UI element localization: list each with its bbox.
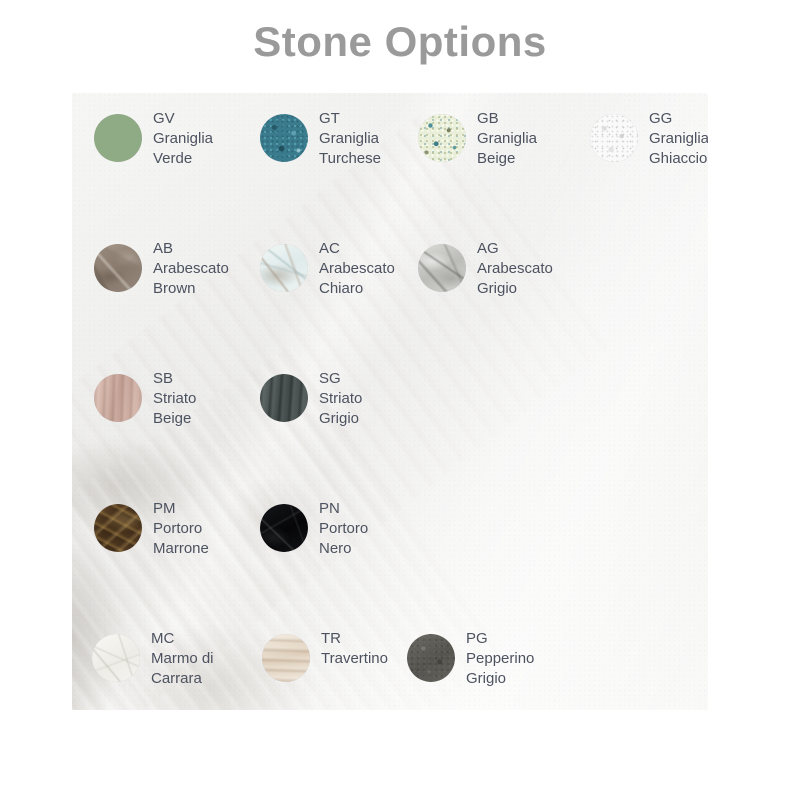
stone-option-sg[interactable]: SG Striato Grigio xyxy=(260,365,362,429)
stone-name-line2: Carrara xyxy=(151,669,214,689)
page-title: Stone Options xyxy=(0,14,800,70)
stone-name-line2: Grigio xyxy=(477,279,553,299)
stone-option-ac[interactable]: AC Arabescato Chiaro xyxy=(260,235,395,299)
stone-code: AG xyxy=(477,239,553,259)
stone-option-label: MC Marmo di Carrara xyxy=(151,625,214,689)
stone-option-label: GG Graniglia Ghiaccio xyxy=(649,105,708,169)
stone-code: PN xyxy=(319,499,368,519)
stone-code: AC xyxy=(319,239,395,259)
stone-name-line1: Graniglia xyxy=(153,129,213,149)
portoro-nero-swatch[interactable] xyxy=(260,504,308,552)
stone-options-panel: GV Graniglia Verde GT Graniglia Turchese xyxy=(72,93,708,710)
stone-name-line1: Travertino xyxy=(321,649,388,669)
stone-name-line1: Arabescato xyxy=(477,259,553,279)
stone-row: GV Graniglia Verde GT Graniglia Turchese xyxy=(72,105,708,195)
stone-name-line1: Striato xyxy=(319,389,362,409)
stone-name-line2: Ghiaccio xyxy=(649,149,708,169)
travertino-swatch[interactable] xyxy=(262,634,310,682)
stone-name-line1: Portoro xyxy=(319,519,368,539)
stone-option-gt[interactable]: GT Graniglia Turchese xyxy=(260,105,381,169)
stone-name-line1: Pepperino xyxy=(466,649,534,669)
stone-name-line1: Arabescato xyxy=(319,259,395,279)
arabescato-chiaro-swatch[interactable] xyxy=(260,244,308,292)
stone-option-tr[interactable]: TR Travertino xyxy=(262,625,388,682)
stone-option-label: AC Arabescato Chiaro xyxy=(319,235,395,299)
stone-name-line2: Verde xyxy=(153,149,213,169)
stone-name-line1: Graniglia xyxy=(477,129,537,149)
graniglia-verde-swatch[interactable] xyxy=(94,114,142,162)
stone-name-line2: Turchese xyxy=(319,149,381,169)
stone-option-label: AG Arabescato Grigio xyxy=(477,235,553,299)
stone-option-sb[interactable]: SB Striato Beige xyxy=(94,365,196,429)
stone-row: AB Arabescato Brown AC Arabescato Chiaro xyxy=(72,235,708,325)
stone-option-pm[interactable]: PM Portoro Marrone xyxy=(94,495,209,559)
stone-name-line2: Nero xyxy=(319,539,368,559)
stone-name-line1: Graniglia xyxy=(649,129,708,149)
stone-code: GB xyxy=(477,109,537,129)
portoro-marrone-swatch[interactable] xyxy=(94,504,142,552)
stone-option-label: SG Striato Grigio xyxy=(319,365,362,429)
stone-code: PG xyxy=(466,629,534,649)
stone-option-label: SB Striato Beige xyxy=(153,365,196,429)
stone-code: AB xyxy=(153,239,229,259)
stone-name-line1: Portoro xyxy=(153,519,209,539)
stone-name-line2: Marrone xyxy=(153,539,209,559)
marmo-di-carrara-swatch[interactable] xyxy=(92,634,140,682)
stone-name-line2: Chiaro xyxy=(319,279,395,299)
stone-code: SG xyxy=(319,369,362,389)
stone-code: GG xyxy=(649,109,708,129)
striato-beige-swatch[interactable] xyxy=(94,374,142,422)
stone-code: MC xyxy=(151,629,214,649)
graniglia-ghiaccio-swatch[interactable] xyxy=(590,114,638,162)
stone-option-label: AB Arabescato Brown xyxy=(153,235,229,299)
striato-grigio-swatch[interactable] xyxy=(260,374,308,422)
stone-row: PM Portoro Marrone PN Portoro Nero xyxy=(72,495,708,585)
stone-code: PM xyxy=(153,499,209,519)
stone-name-line2: Beige xyxy=(477,149,537,169)
stone-name-line2: Beige xyxy=(153,409,196,429)
stone-option-pn[interactable]: PN Portoro Nero xyxy=(260,495,368,559)
stone-code: GV xyxy=(153,109,213,129)
stone-name-line2: Grigio xyxy=(466,669,534,689)
stone-option-label: GT Graniglia Turchese xyxy=(319,105,381,169)
stone-option-ag[interactable]: AG Arabescato Grigio xyxy=(418,235,553,299)
stone-name-line1: Graniglia xyxy=(319,129,381,149)
stone-name-line1: Marmo di xyxy=(151,649,214,669)
stone-row: SB Striato Beige SG Striato Grigio xyxy=(72,365,708,455)
stone-code: GT xyxy=(319,109,381,129)
stone-option-ab[interactable]: AB Arabescato Brown xyxy=(94,235,229,299)
stone-option-label: GV Graniglia Verde xyxy=(153,105,213,169)
stone-name-line2: Brown xyxy=(153,279,229,299)
stone-option-label: PG Pepperino Grigio xyxy=(466,625,534,689)
stone-name-line1: Striato xyxy=(153,389,196,409)
stone-option-gb[interactable]: GB Graniglia Beige xyxy=(418,105,537,169)
stone-option-label: GB Graniglia Beige xyxy=(477,105,537,169)
stone-option-label: PM Portoro Marrone xyxy=(153,495,209,559)
graniglia-turchese-swatch[interactable] xyxy=(260,114,308,162)
stone-option-mc[interactable]: MC Marmo di Carrara xyxy=(92,625,214,689)
stone-code: SB xyxy=(153,369,196,389)
arabescato-brown-swatch[interactable] xyxy=(94,244,142,292)
stone-option-gg[interactable]: GG Graniglia Ghiaccio xyxy=(590,105,708,169)
pepperino-grigio-swatch[interactable] xyxy=(407,634,455,682)
stone-name-line1: Arabescato xyxy=(153,259,229,279)
stone-row: MC Marmo di Carrara TR Travertino xyxy=(72,625,708,710)
stone-option-label: TR Travertino xyxy=(321,625,388,669)
stone-name-line2: Grigio xyxy=(319,409,362,429)
stone-code: TR xyxy=(321,629,388,649)
stone-options-grid: GV Graniglia Verde GT Graniglia Turchese xyxy=(72,93,708,710)
stone-option-pg[interactable]: PG Pepperino Grigio xyxy=(407,625,534,689)
stone-options-page: Stone Options GV Graniglia Verde xyxy=(0,0,800,800)
stone-option-gv[interactable]: GV Graniglia Verde xyxy=(94,105,213,169)
stone-option-label: PN Portoro Nero xyxy=(319,495,368,559)
arabescato-grigio-swatch[interactable] xyxy=(418,244,466,292)
graniglia-beige-swatch[interactable] xyxy=(418,114,466,162)
